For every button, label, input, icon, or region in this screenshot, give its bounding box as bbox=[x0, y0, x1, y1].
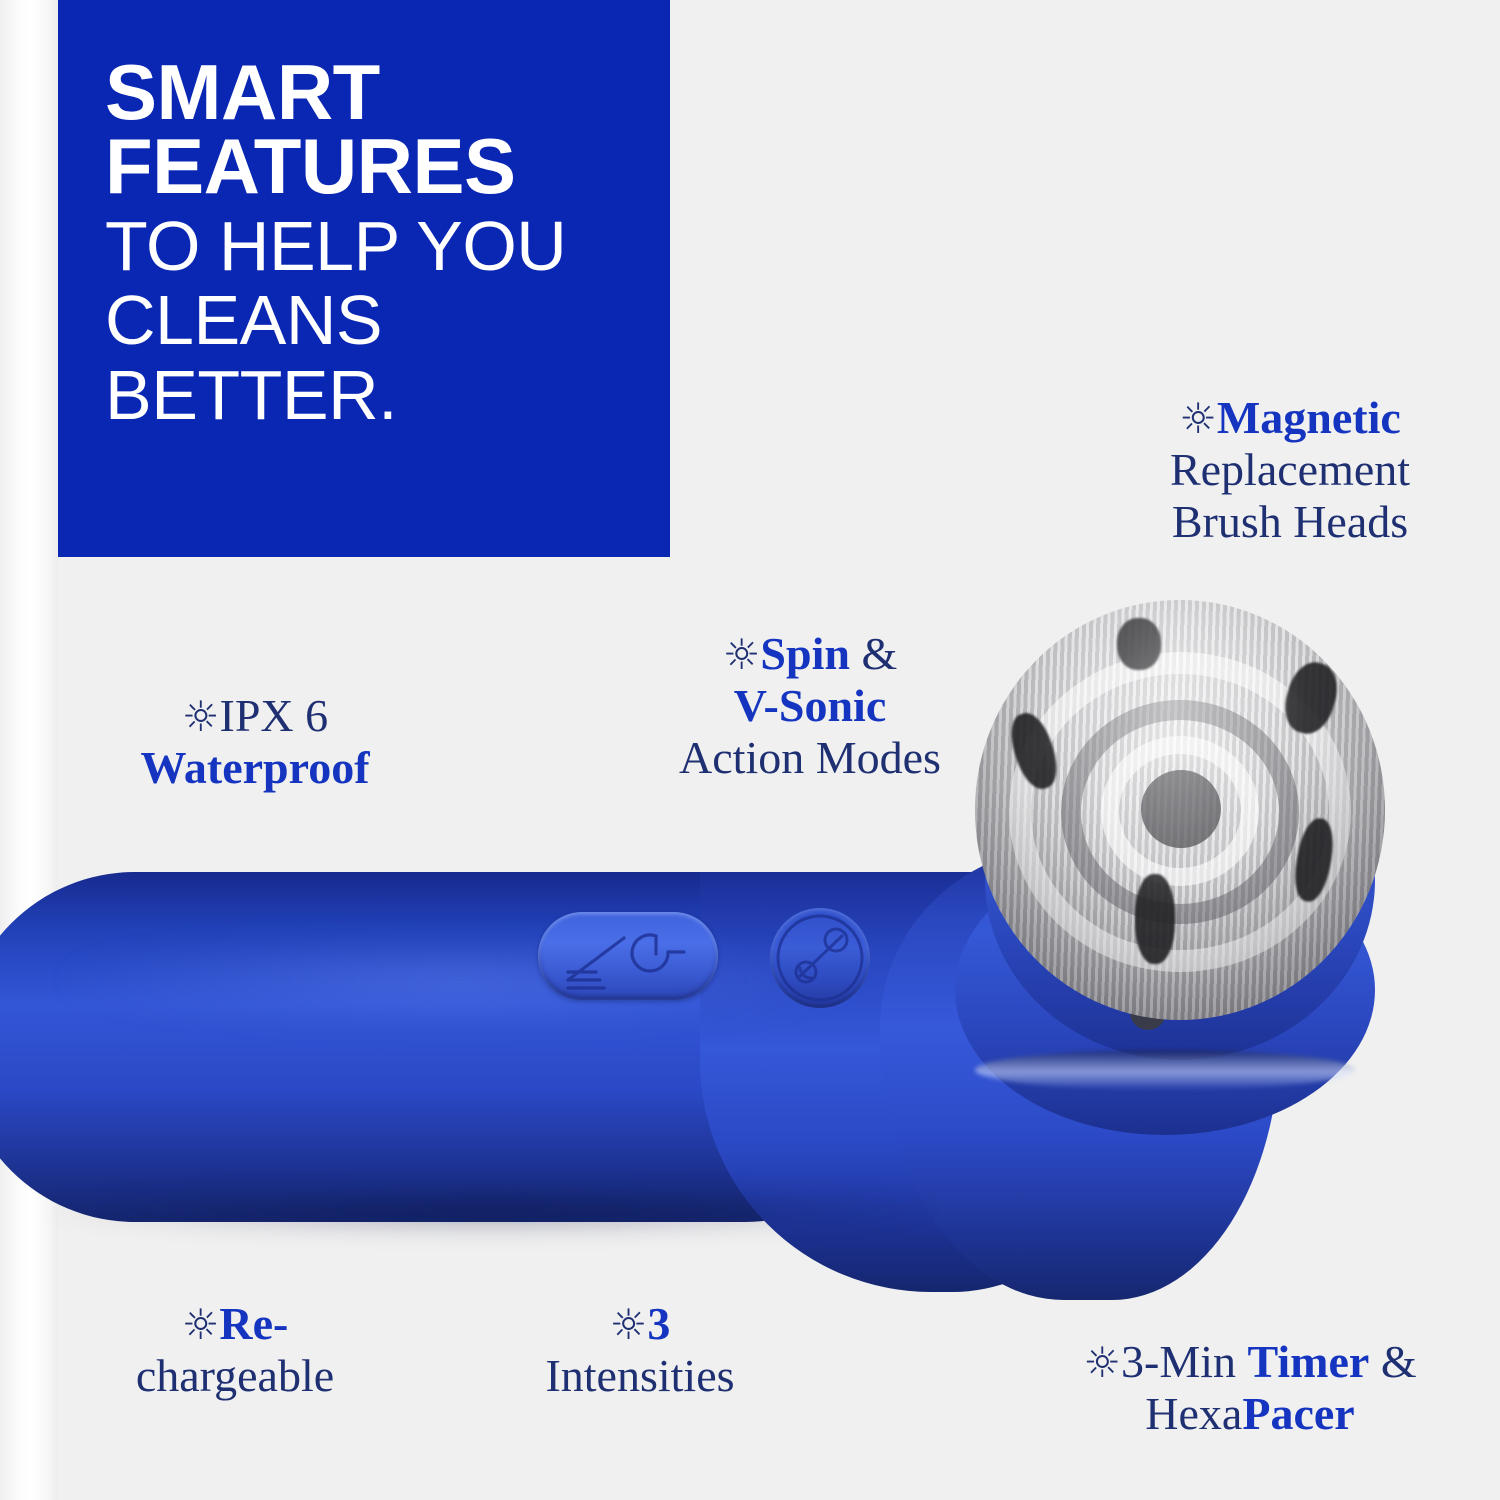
feature-ampersand: & bbox=[1369, 1336, 1416, 1387]
feature-ampersand: & bbox=[850, 628, 897, 679]
feature-line: Replacement bbox=[1090, 444, 1490, 496]
product-feature-image: SMART FEATURES TO HELP YOU CLEANS BETTER… bbox=[0, 0, 1500, 1500]
feature-line: chargeable bbox=[70, 1350, 400, 1402]
feature-magnetic-bold: Magnetic bbox=[1217, 392, 1401, 443]
feature-line: V-Sonic bbox=[620, 680, 1000, 732]
feature-spin-vsonic-action-modes: ☼Spin & V-Sonic Action Modes bbox=[620, 628, 1000, 784]
feature-line: Action Modes bbox=[620, 732, 1000, 784]
feature-magnetic-replacement-brush-heads: ☼Magnetic Replacement Brush Heads bbox=[1090, 392, 1490, 548]
feature-pacer-bold: Pacer bbox=[1242, 1388, 1354, 1439]
sun-icon: ☼ bbox=[182, 1300, 220, 1349]
feature-3-intensities: ☼3 Intensities bbox=[470, 1298, 810, 1402]
handle-gloss-highlight bbox=[60, 935, 860, 1025]
feature-timer-bold: Timer bbox=[1248, 1336, 1370, 1387]
sun-icon: ☼ bbox=[182, 692, 220, 741]
brush-head-seam bbox=[975, 1050, 1355, 1090]
feature-timer-hexapacer: ☼3-Min Timer & HexaPacer bbox=[1040, 1336, 1460, 1440]
headline-light: TO HELP YOU CLEANS BETTER. bbox=[105, 209, 670, 432]
feature-hexa-prefix: Hexa bbox=[1145, 1388, 1242, 1439]
sun-icon: ☼ bbox=[723, 630, 761, 679]
feature-line: Brush Heads bbox=[1090, 496, 1490, 548]
sun-icon: ☼ bbox=[1083, 1338, 1121, 1387]
headline-panel: SMART FEATURES TO HELP YOU CLEANS BETTER… bbox=[58, 0, 670, 557]
feature-ipx6-waterproof: ☼IPX 6 Waterproof bbox=[75, 690, 435, 794]
feature-line: ☼3-Min Timer & bbox=[1040, 1336, 1460, 1388]
handle-bottom-shadow bbox=[40, 1185, 940, 1235]
mode-icon bbox=[770, 908, 870, 1008]
power-icon bbox=[538, 912, 718, 1000]
feature-line: ☼3 bbox=[470, 1298, 810, 1350]
headline-bold: SMART FEATURES bbox=[105, 55, 670, 203]
feature-spin-bold: Spin bbox=[760, 628, 850, 679]
feature-line: HexaPacer bbox=[1040, 1388, 1460, 1440]
feature-vsonic-bold: V-Sonic bbox=[734, 680, 887, 731]
mode-button[interactable] bbox=[770, 908, 870, 1008]
feature-rechargeable: ☼Re- chargeable bbox=[70, 1298, 400, 1402]
feature-line: Intensities bbox=[470, 1350, 810, 1402]
left-edge-highlight bbox=[0, 0, 58, 1500]
bristle-disc bbox=[975, 600, 1385, 1020]
feature-re-bold: Re- bbox=[219, 1298, 288, 1349]
sun-icon: ☼ bbox=[610, 1300, 648, 1349]
feature-waterproof-bold: Waterproof bbox=[140, 742, 369, 793]
feature-line: ☼Spin & bbox=[620, 628, 1000, 680]
feature-line: ☼Magnetic bbox=[1090, 392, 1490, 444]
sun-icon: ☼ bbox=[1179, 394, 1217, 443]
feature-line: ☼IPX 6 bbox=[75, 690, 435, 742]
feature-count-bold: 3 bbox=[647, 1298, 670, 1349]
feature-line: Waterproof bbox=[75, 742, 435, 794]
feature-timer-prefix: 3-Min bbox=[1121, 1336, 1248, 1387]
feature-ipx-label: IPX 6 bbox=[220, 690, 329, 741]
feature-line: ☼Re- bbox=[70, 1298, 400, 1350]
power-button[interactable] bbox=[538, 912, 718, 1000]
bristle-shading bbox=[975, 600, 1385, 1020]
